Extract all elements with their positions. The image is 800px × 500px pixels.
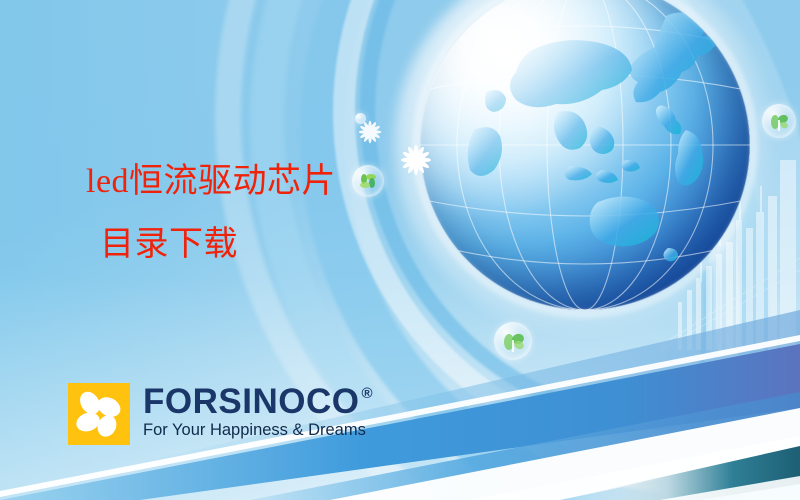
diagonal-ribbon-bands: [0, 240, 800, 500]
daisy-ornament: [358, 120, 382, 144]
globe-specular-sheen: [420, 0, 750, 310]
globe-arc-2: [333, 0, 800, 464]
globe-sphere: [420, 0, 750, 310]
pinwheel-petals-icon: [68, 383, 130, 445]
pinwheel-icon: [352, 165, 384, 197]
brand-logo: FORSINOCO ® For Your Happiness & Dreams: [68, 383, 373, 445]
leaf-sprout-icon: [762, 104, 796, 138]
earth-globe: [420, 0, 750, 310]
registered-trademark-icon: ®: [361, 386, 373, 401]
globe-arc-3: [360, 0, 800, 430]
globe-glow: [394, 0, 776, 336]
leaf-sprout-icon: [494, 322, 532, 360]
bubble-leaf: [762, 104, 796, 138]
page-title: led恒流驱动芯片 目录下载: [86, 165, 336, 262]
bubble-small: [355, 113, 366, 124]
globe-continents-and-grid: [420, 0, 750, 310]
headline-line-1: led恒流驱动芯片: [86, 163, 336, 200]
globe-arc-1: [300, 0, 800, 500]
forsinoco-pinwheel-mark: [68, 383, 130, 445]
bubble-leaf: [494, 322, 532, 360]
headline-line-2: 目录下载: [100, 228, 336, 262]
logo-wordmark: FORSINOCO ®: [143, 384, 373, 420]
city-skyline-silhouette: [660, 150, 800, 350]
logo-tagline: For Your Happiness & Dreams: [143, 421, 373, 440]
promo-banner: led恒流驱动芯片 目录下载 FORSINOCO ® For Your Happ…: [0, 0, 800, 500]
logo-name-text: FORSINOCO: [143, 384, 359, 420]
daisy-ornament: [400, 144, 432, 176]
bubble-pinwheel: [352, 165, 384, 197]
logo-text-block: FORSINOCO ® For Your Happiness & Dreams: [143, 384, 373, 440]
globe-rim-halo: [412, 0, 758, 318]
